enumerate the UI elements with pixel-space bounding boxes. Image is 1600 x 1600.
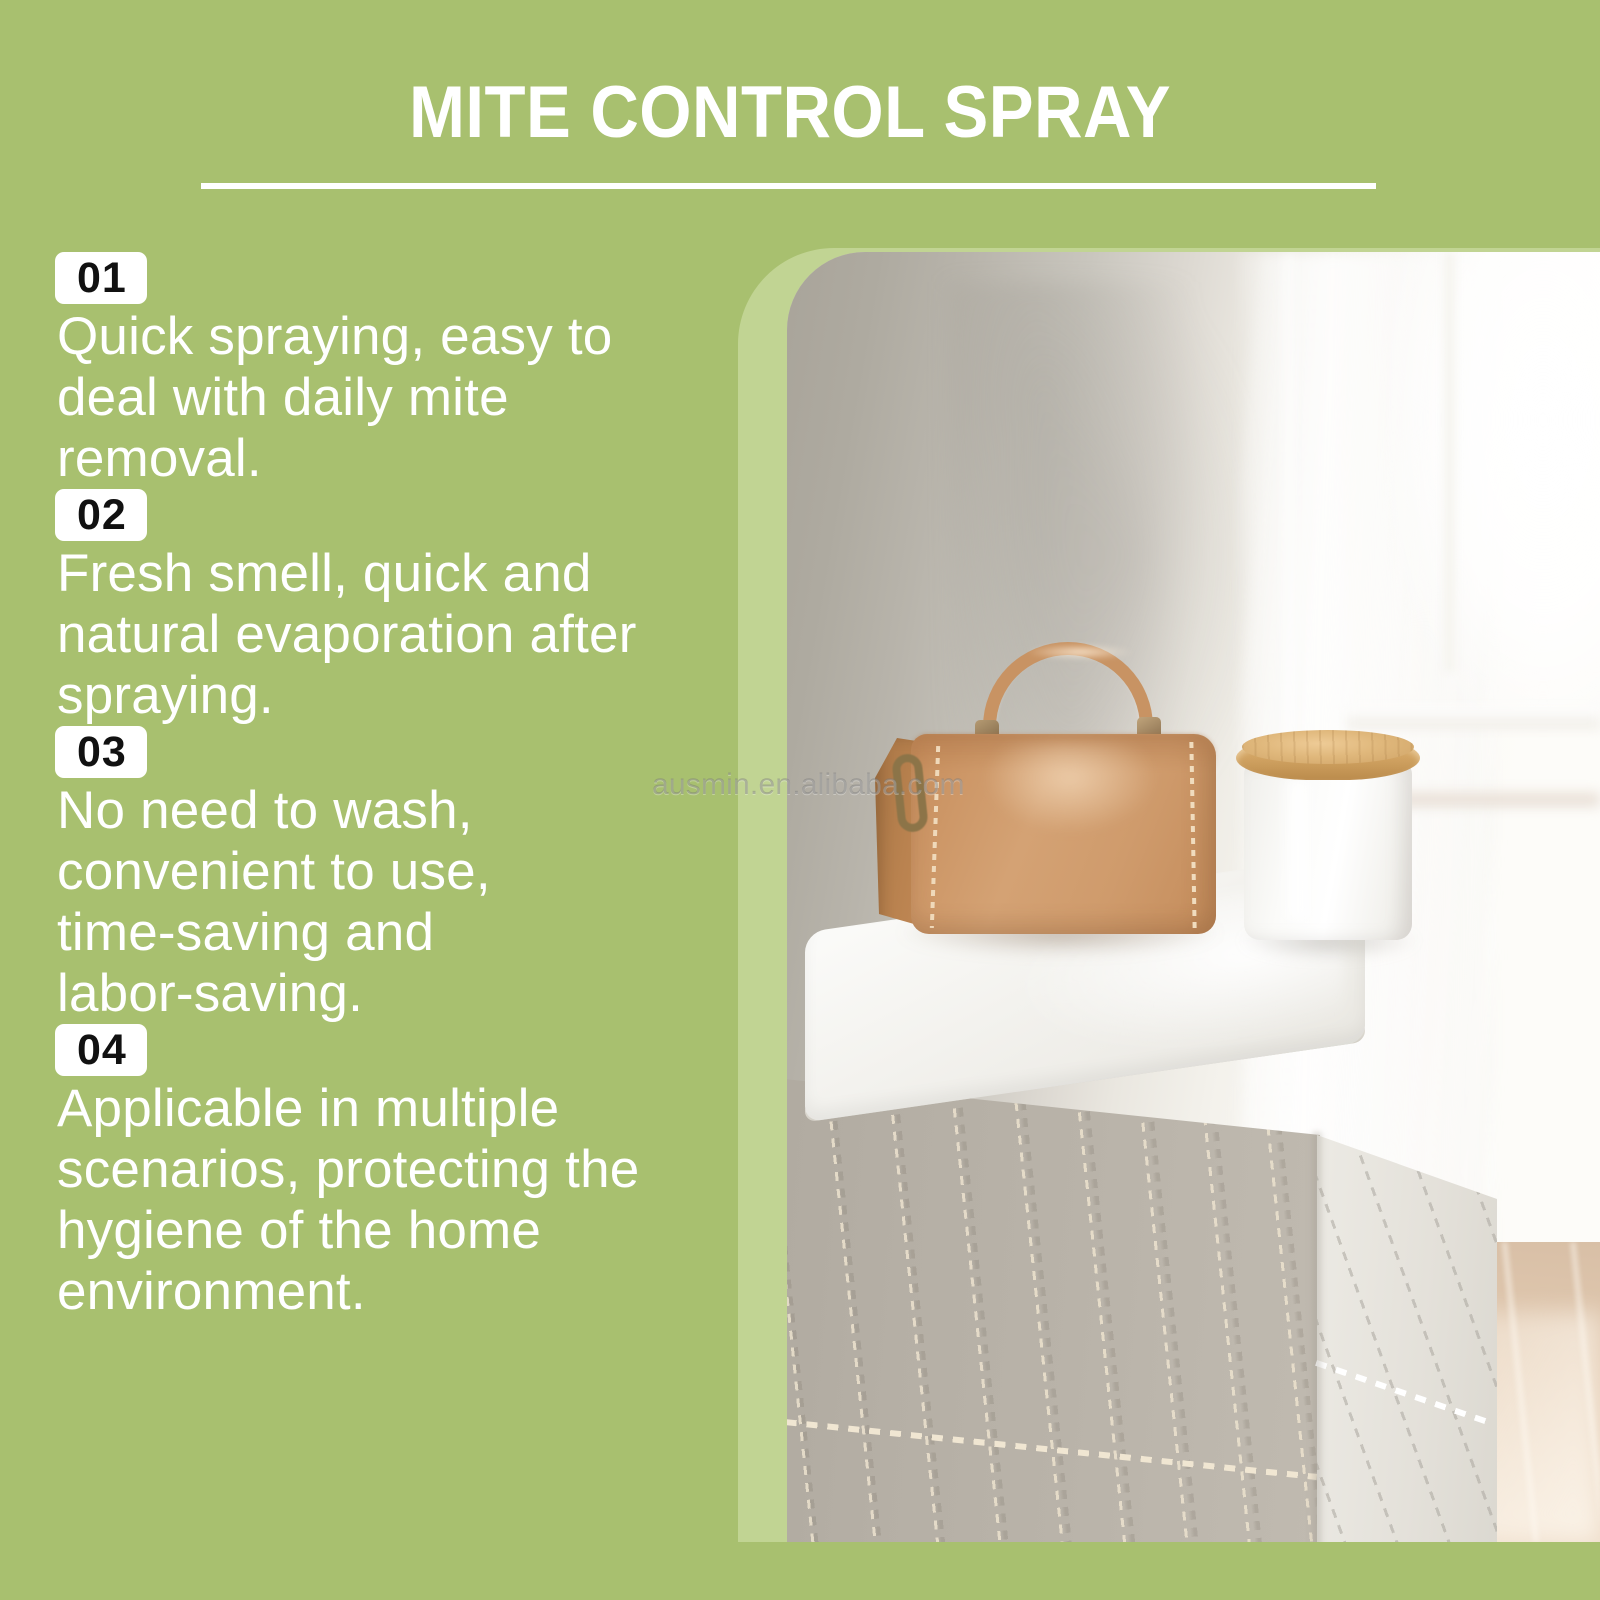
feature-number-badge: 02: [55, 489, 147, 541]
ottoman-side-stitching: [1317, 1135, 1497, 1542]
feature-text: Fresh smell, quick and natural evaporati…: [57, 543, 717, 726]
product-scene-photo: [787, 252, 1600, 1542]
ceramic-jar: [1234, 720, 1424, 950]
handbag-body-highlight: [985, 742, 1155, 832]
window-light-glow: [1387, 252, 1600, 732]
ottoman-front-stitching: [787, 1077, 1320, 1542]
jar-body-highlight: [1278, 780, 1318, 920]
feature-item-03: 03 No need to wash, convenient to use, t…: [55, 726, 755, 1024]
feature-text: No need to wash, convenient to use, time…: [57, 780, 537, 1024]
infographic-poster: MITE CONTROL SPRAY 01 Quick spraying, ea…: [0, 0, 1600, 1600]
feature-number-badge: 03: [55, 726, 147, 778]
feature-number-badge: 04: [55, 1024, 147, 1076]
jar-lid-wood-grain: [1242, 730, 1414, 764]
feature-item-01: 01 Quick spraying, easy to deal with dai…: [55, 252, 755, 489]
jar-body: [1244, 762, 1412, 940]
handbag-handle-highlight: [1025, 644, 1135, 660]
window-frame: [1444, 252, 1455, 672]
watermark: ausmin.en.alibaba.com: [652, 770, 965, 800]
ottoman-corner-edge: [1310, 1132, 1324, 1542]
feature-text: Applicable in multiple scenarios, protec…: [57, 1078, 717, 1322]
feature-list: 01 Quick spraying, easy to deal with dai…: [55, 252, 755, 1322]
feature-item-02: 02 Fresh smell, quick and natural evapor…: [55, 489, 755, 726]
storage-ottoman: [787, 892, 1365, 1542]
feature-text: Quick spraying, easy to deal with daily …: [57, 306, 632, 489]
feature-number-badge: 01: [55, 252, 147, 304]
feature-item-04: 04 Applicable in multiple scenarios, pro…: [55, 1024, 755, 1322]
title-divider: [201, 183, 1376, 189]
page-title: MITE CONTROL SPRAY: [63, 76, 1517, 149]
